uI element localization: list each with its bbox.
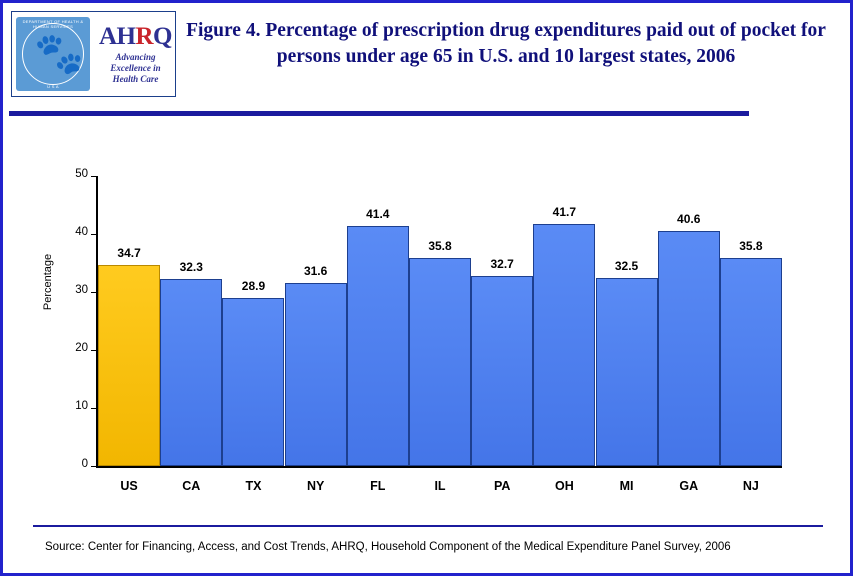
bar-il	[409, 258, 471, 466]
bar-value-label: 35.8	[409, 239, 471, 253]
ahrq-wordmark-accent: R	[135, 23, 153, 50]
x-tick-label-mi: MI	[596, 479, 658, 493]
hhs-seal-bottom-text: U S A	[16, 84, 90, 89]
bar-value-label: 32.7	[471, 257, 533, 271]
bar-value-label: 31.6	[285, 264, 347, 278]
y-tick-label: 0	[62, 458, 88, 470]
figure-title: Figure 4. Percentage of prescription dru…	[186, 18, 826, 70]
bar-slot: 32.3	[160, 176, 222, 466]
y-tick-label: 30	[62, 284, 88, 296]
ahrq-tagline-line2: Excellence in	[96, 63, 175, 74]
bar-slot: 31.6	[285, 176, 347, 466]
ahrq-tagline: Advancing Excellence in Health Care	[96, 52, 175, 85]
x-tick-label-ga: GA	[658, 479, 720, 493]
bar-value-label: 40.6	[658, 212, 720, 226]
figure-header: DEPARTMENT OF HEALTH & HUMAN SERVICES 🐾 …	[6, 6, 853, 114]
bar-tx	[222, 298, 284, 466]
bar-fl	[347, 226, 409, 466]
y-tick-label: 50	[62, 168, 88, 180]
ahrq-tagline-line1: Advancing	[96, 52, 175, 63]
bar-oh	[533, 224, 595, 466]
y-tick-label: 10	[62, 400, 88, 412]
y-tick-mark	[91, 292, 97, 293]
hhs-seal-icon: DEPARTMENT OF HEALTH & HUMAN SERVICES 🐾 …	[16, 17, 90, 91]
bar-value-label: 41.7	[533, 205, 595, 219]
x-tick-label-us: US	[98, 479, 160, 493]
bar-slot: 28.9	[222, 176, 284, 466]
ahrq-logo: DEPARTMENT OF HEALTH & HUMAN SERVICES 🐾 …	[11, 11, 176, 97]
bar-pa	[471, 276, 533, 466]
bar-value-label: 32.5	[596, 259, 658, 273]
y-tick-mark	[91, 466, 97, 467]
bar-slot: 32.5	[596, 176, 658, 466]
bar-value-label: 35.8	[720, 239, 782, 253]
x-tick-label-pa: PA	[471, 479, 533, 493]
y-tick-mark	[91, 234, 97, 235]
bar-slot: 41.7	[533, 176, 595, 466]
bar-us	[98, 265, 160, 466]
bar-value-label: 41.4	[347, 207, 409, 221]
bar-slot: 40.6	[658, 176, 720, 466]
x-tick-label-il: IL	[409, 479, 471, 493]
bar-slot: 41.4	[347, 176, 409, 466]
x-axis-line	[96, 466, 782, 468]
bar-value-label: 28.9	[222, 279, 284, 293]
bar-ca	[160, 279, 222, 466]
x-tick-label-ca: CA	[160, 479, 222, 493]
y-axis-title: Percentage	[42, 222, 54, 342]
ahrq-wordmark-block: AHRQ Advancing Excellence in Health Care	[96, 24, 175, 85]
footer-divider	[33, 525, 823, 527]
x-tick-label-fl: FL	[347, 479, 409, 493]
bar-value-label: 34.7	[98, 246, 160, 260]
y-tick-mark	[91, 350, 97, 351]
header-divider	[9, 111, 749, 116]
ahrq-tagline-line3: Health Care	[96, 74, 175, 85]
bar-slot: 35.8	[720, 176, 782, 466]
x-tick-label-tx: TX	[222, 479, 284, 493]
bar-mi	[596, 278, 658, 467]
bar-slot: 34.7	[98, 176, 160, 466]
bar-value-label: 32.3	[160, 260, 222, 274]
bar-slot: 32.7	[471, 176, 533, 466]
source-note: Source: Center for Financing, Access, an…	[45, 541, 825, 553]
bar-nj	[720, 258, 782, 466]
ahrq-wordmark-prefix: AH	[99, 23, 136, 50]
bar-ny	[285, 283, 347, 466]
y-tick-mark	[91, 176, 97, 177]
bar-slot: 35.8	[409, 176, 471, 466]
bar-ga	[658, 231, 720, 466]
y-tick-mark	[91, 408, 97, 409]
ahrq-wordmark-suffix: Q	[153, 23, 172, 50]
y-tick-label: 40	[62, 226, 88, 238]
x-tick-label-oh: OH	[533, 479, 595, 493]
bar-chart: Percentage 01020304050 34.732.328.931.64…	[6, 121, 853, 521]
hhs-eagle-icon: 🐾	[34, 31, 72, 77]
x-tick-label-ny: NY	[285, 479, 347, 493]
plot-area: 34.732.328.931.641.435.832.741.732.540.6…	[98, 176, 782, 466]
x-tick-label-nj: NJ	[720, 479, 782, 493]
y-tick-label: 20	[62, 342, 88, 354]
figure-page: DEPARTMENT OF HEALTH & HUMAN SERVICES 🐾 …	[0, 0, 853, 576]
ahrq-wordmark: AHRQ	[96, 24, 175, 50]
